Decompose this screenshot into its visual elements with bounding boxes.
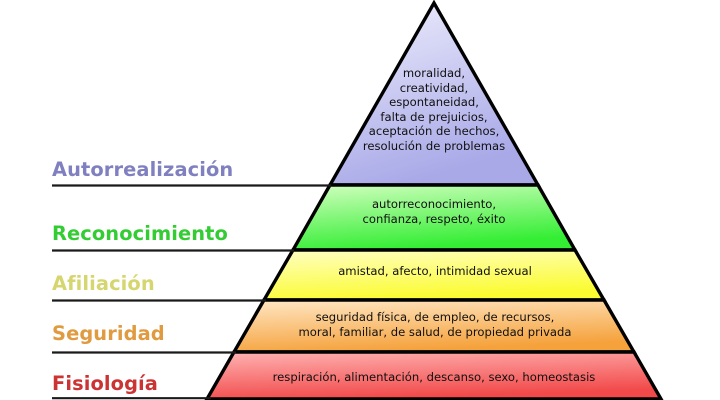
tier-label-love: Afiliación <box>52 272 155 295</box>
tier-label-selfactualization: Autorrealización <box>52 158 233 181</box>
tier-shape-safety <box>234 300 634 352</box>
tier-shape-selfactualization <box>330 3 538 185</box>
tier-label-esteem: Reconocimiento <box>52 222 228 245</box>
tier-shape-love <box>264 250 604 300</box>
tier-shape-physiological <box>207 352 661 399</box>
maslow-pyramid-diagram: moralidad, creatividad, espontaneidad, f… <box>0 0 720 400</box>
tier-label-physiological: Fisiología <box>52 372 158 395</box>
tier-label-safety: Seguridad <box>52 322 165 345</box>
tier-shape-esteem <box>293 185 575 250</box>
